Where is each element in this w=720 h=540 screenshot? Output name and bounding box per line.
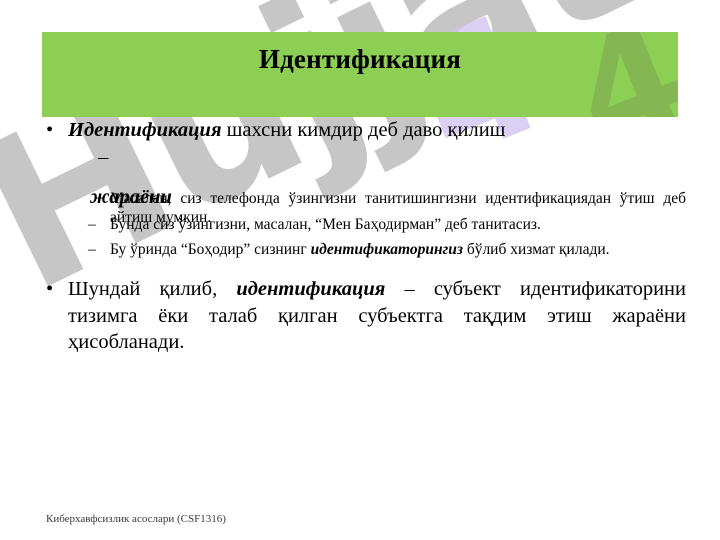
list-item-text-after: бўлиб хизмат қилади. — [463, 241, 610, 258]
bullet-paragraph-1: • Идентификация шахсни кимдир деб даво қ… — [38, 117, 686, 144]
bullet-glyph: • — [46, 276, 53, 303]
paragraph-1-rest: шахсни кимдир деб даво қилиш — [227, 119, 506, 141]
slide-body: • Идентификация шахсни кимдир деб даво қ… — [38, 117, 686, 356]
dash-glyph: – — [88, 240, 96, 260]
paragraph-1-continuation: – жараёни — [38, 144, 686, 211]
slide-canvas: Hujjat24 4 4 Идентификация • Идентификац… — [0, 0, 720, 540]
paragraph-1-dash: – — [68, 144, 686, 171]
list-item: – Бу ўринда “Боҳодир” сизнинг идентифика… — [38, 240, 686, 260]
title-banner: 4 Идентификация — [42, 32, 678, 117]
overlapping-text-region: – жараёни Масалан, сиз телефонда ўзингиз… — [38, 144, 686, 210]
paragraph-1-continuation-word: жараёни — [68, 184, 686, 211]
paragraph-3-before: Шундай қилиб, — [68, 278, 236, 300]
footer-course-label: Киберхавфсизлик асослари (CSF1316) — [46, 513, 226, 525]
bullet-paragraph-2: • Шундай қилиб, идентификация – субъект … — [38, 276, 686, 356]
page-title: Идентификация — [42, 44, 678, 75]
list-item-text-before: Бу ўринда “Боҳодир” сизнинг — [110, 241, 311, 258]
list-item-emphasis: идентификаторингиз — [311, 241, 463, 258]
term-identifikatsiya-2: идентификация — [236, 278, 385, 300]
bullet-glyph: • — [46, 117, 53, 144]
term-identifikatsiya: Идентификация — [68, 119, 222, 141]
